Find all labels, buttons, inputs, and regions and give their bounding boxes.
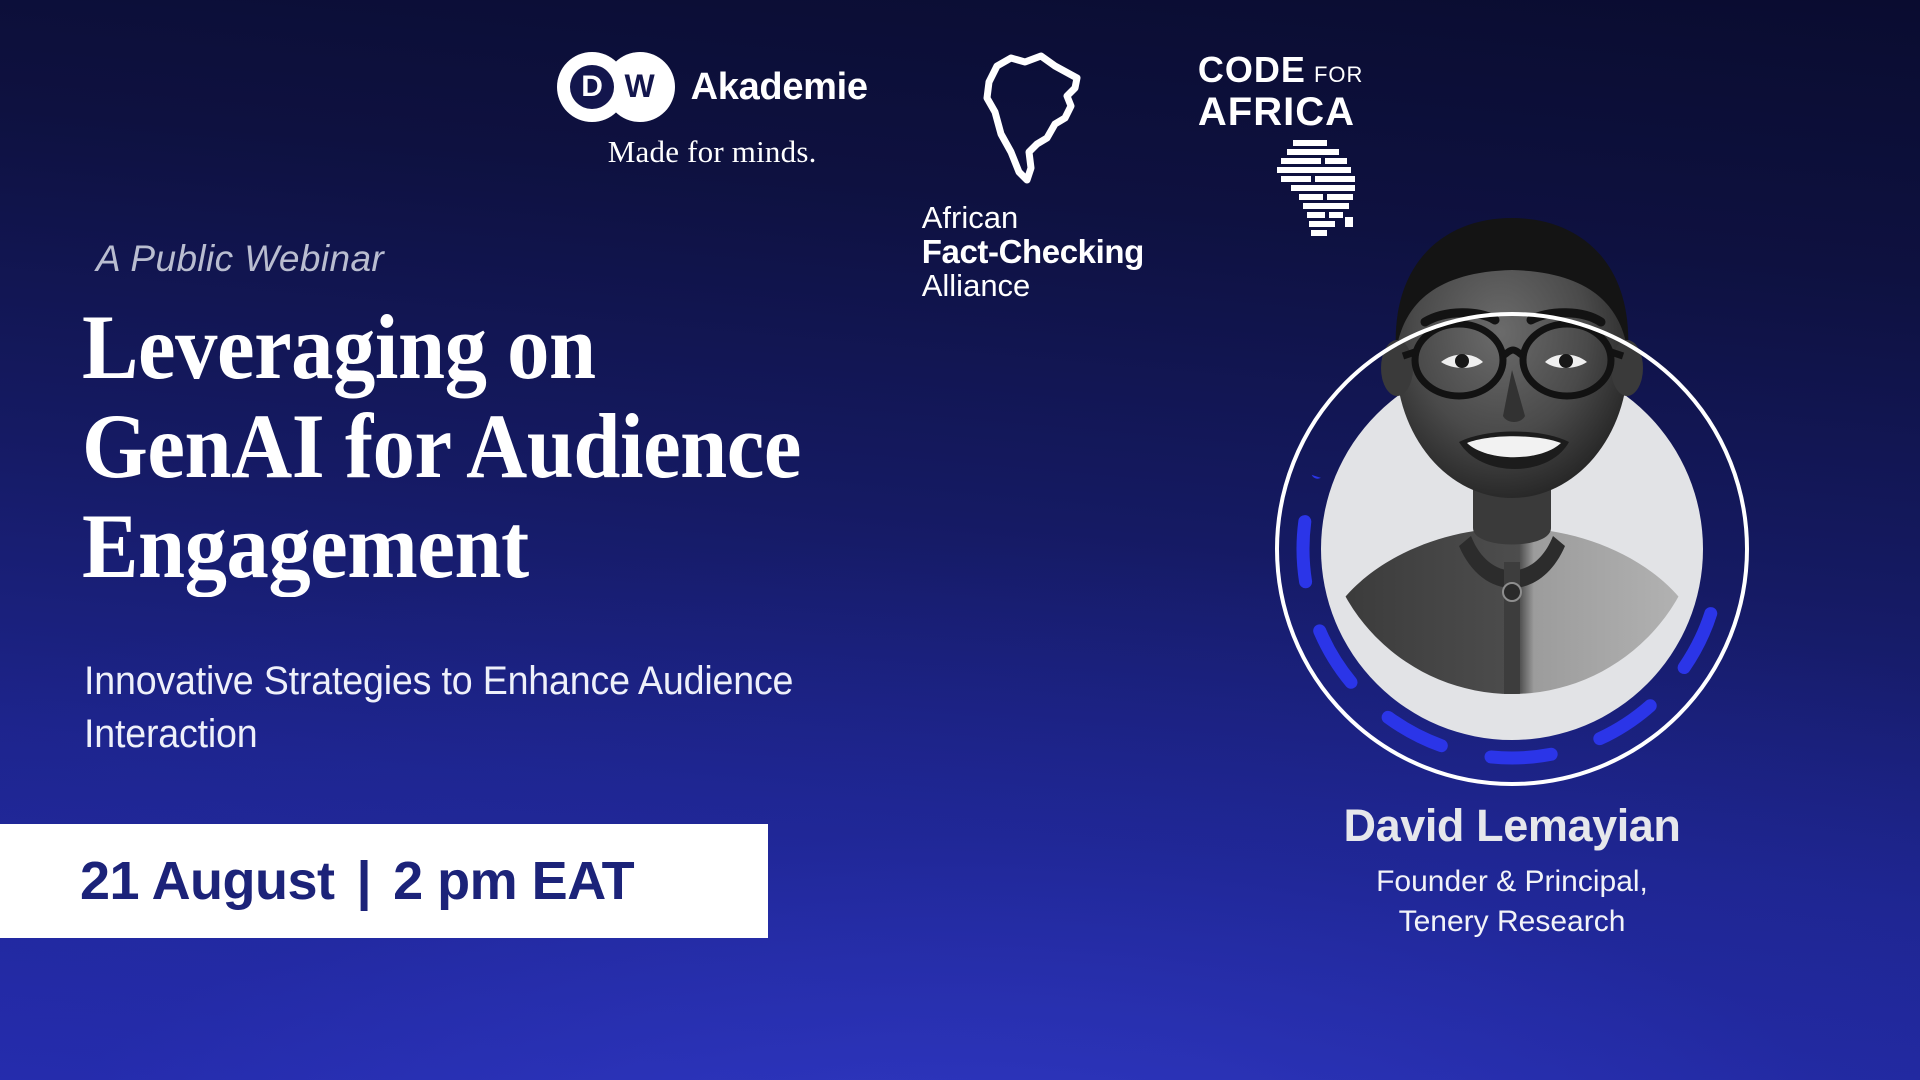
title-line-1: Leveraging on (82, 298, 1057, 397)
cfa-row-1: CODE FOR (1198, 52, 1363, 88)
speaker-role-line-2: Tenery Research (1240, 902, 1784, 942)
dw-letter-d: D (581, 72, 602, 102)
date-time-text: 21 August|2 pm EAT (80, 850, 634, 912)
subtitle-line-1: Innovative Strategies to Enhance Audienc… (84, 655, 986, 708)
speaker-portrait (1275, 312, 1749, 786)
date-time-banner: 21 August|2 pm EAT (0, 824, 768, 938)
date-time-separator: | (357, 851, 372, 911)
title-line-2: GenAI for Audience (82, 397, 1057, 496)
cfa-code-text: CODE (1198, 52, 1306, 88)
dw-akademie-wordmark: Akademie (691, 66, 868, 109)
dw-letter-d-ring: D (570, 65, 614, 109)
subtitle: Innovative Strategies to Enhance Audienc… (84, 655, 986, 761)
partner-logo-row: D W Akademie Made for minds. African Fac… (0, 52, 1920, 192)
event-time: 2 pm EAT (393, 851, 634, 911)
speaker-role: Founder & Principal, Tenery Research (1240, 862, 1784, 942)
speaker-name: David Lemayian (1240, 800, 1784, 852)
cfa-wordmark: CODE FOR AFRICA (1198, 52, 1363, 132)
portrait-dashed-accent-ring (1293, 330, 1731, 768)
dw-circles-icon: D W (557, 52, 675, 122)
page-title: Leveraging on GenAI for Audience Engagem… (82, 298, 1057, 596)
subtitle-line-2: Interaction (84, 708, 986, 761)
dw-tagline: Made for minds. (608, 134, 817, 170)
cfa-for-text: FOR (1314, 64, 1363, 86)
eyebrow-label: A Public Webinar (96, 238, 384, 280)
african-fact-checking-alliance-logo: African Fact-Checking Alliance (922, 52, 1144, 303)
cfa-africa-text: AFRICA (1198, 92, 1363, 132)
afca-line-2: Fact-Checking (922, 235, 1144, 270)
title-line-3: Engagement (82, 497, 1057, 596)
dw-letter-w: W (617, 70, 663, 102)
dw-akademie-logo: D W Akademie Made for minds. (557, 52, 868, 170)
dw-lockup: D W Akademie (557, 52, 868, 122)
afca-line-1: African (922, 202, 1144, 235)
speaker-role-line-1: Founder & Principal, (1240, 862, 1784, 902)
event-date: 21 August (80, 851, 335, 911)
afca-wordmark: African Fact-Checking Alliance (922, 202, 1144, 303)
africa-outline-icon (981, 52, 1085, 184)
webinar-poster: D W Akademie Made for minds. African Fac… (0, 0, 1920, 1080)
